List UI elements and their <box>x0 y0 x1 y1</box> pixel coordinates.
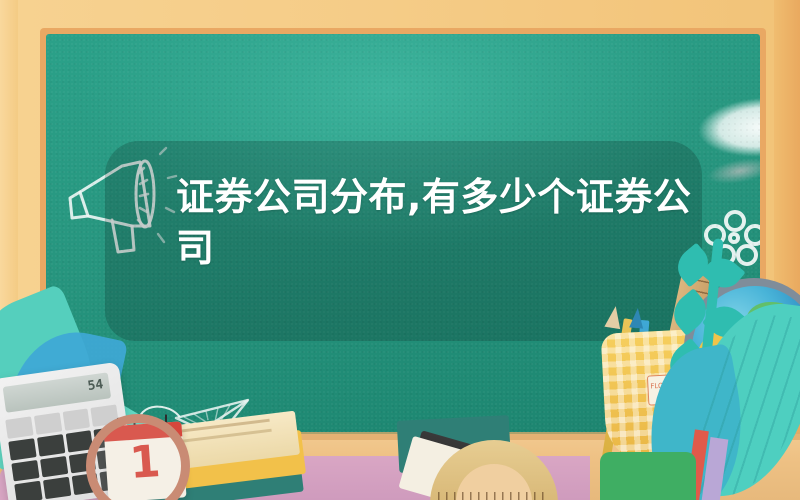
accent-green-block <box>600 452 696 500</box>
pen-blue-tip <box>629 307 645 328</box>
poster-canvas: 证券公司分布,有多少个证券公司 54 1 <box>0 0 800 500</box>
protractor-marks <box>438 492 550 500</box>
pencil-yellow-tip <box>604 305 623 329</box>
page-title: 证券公司分布,有多少个证券公司 <box>176 172 696 274</box>
